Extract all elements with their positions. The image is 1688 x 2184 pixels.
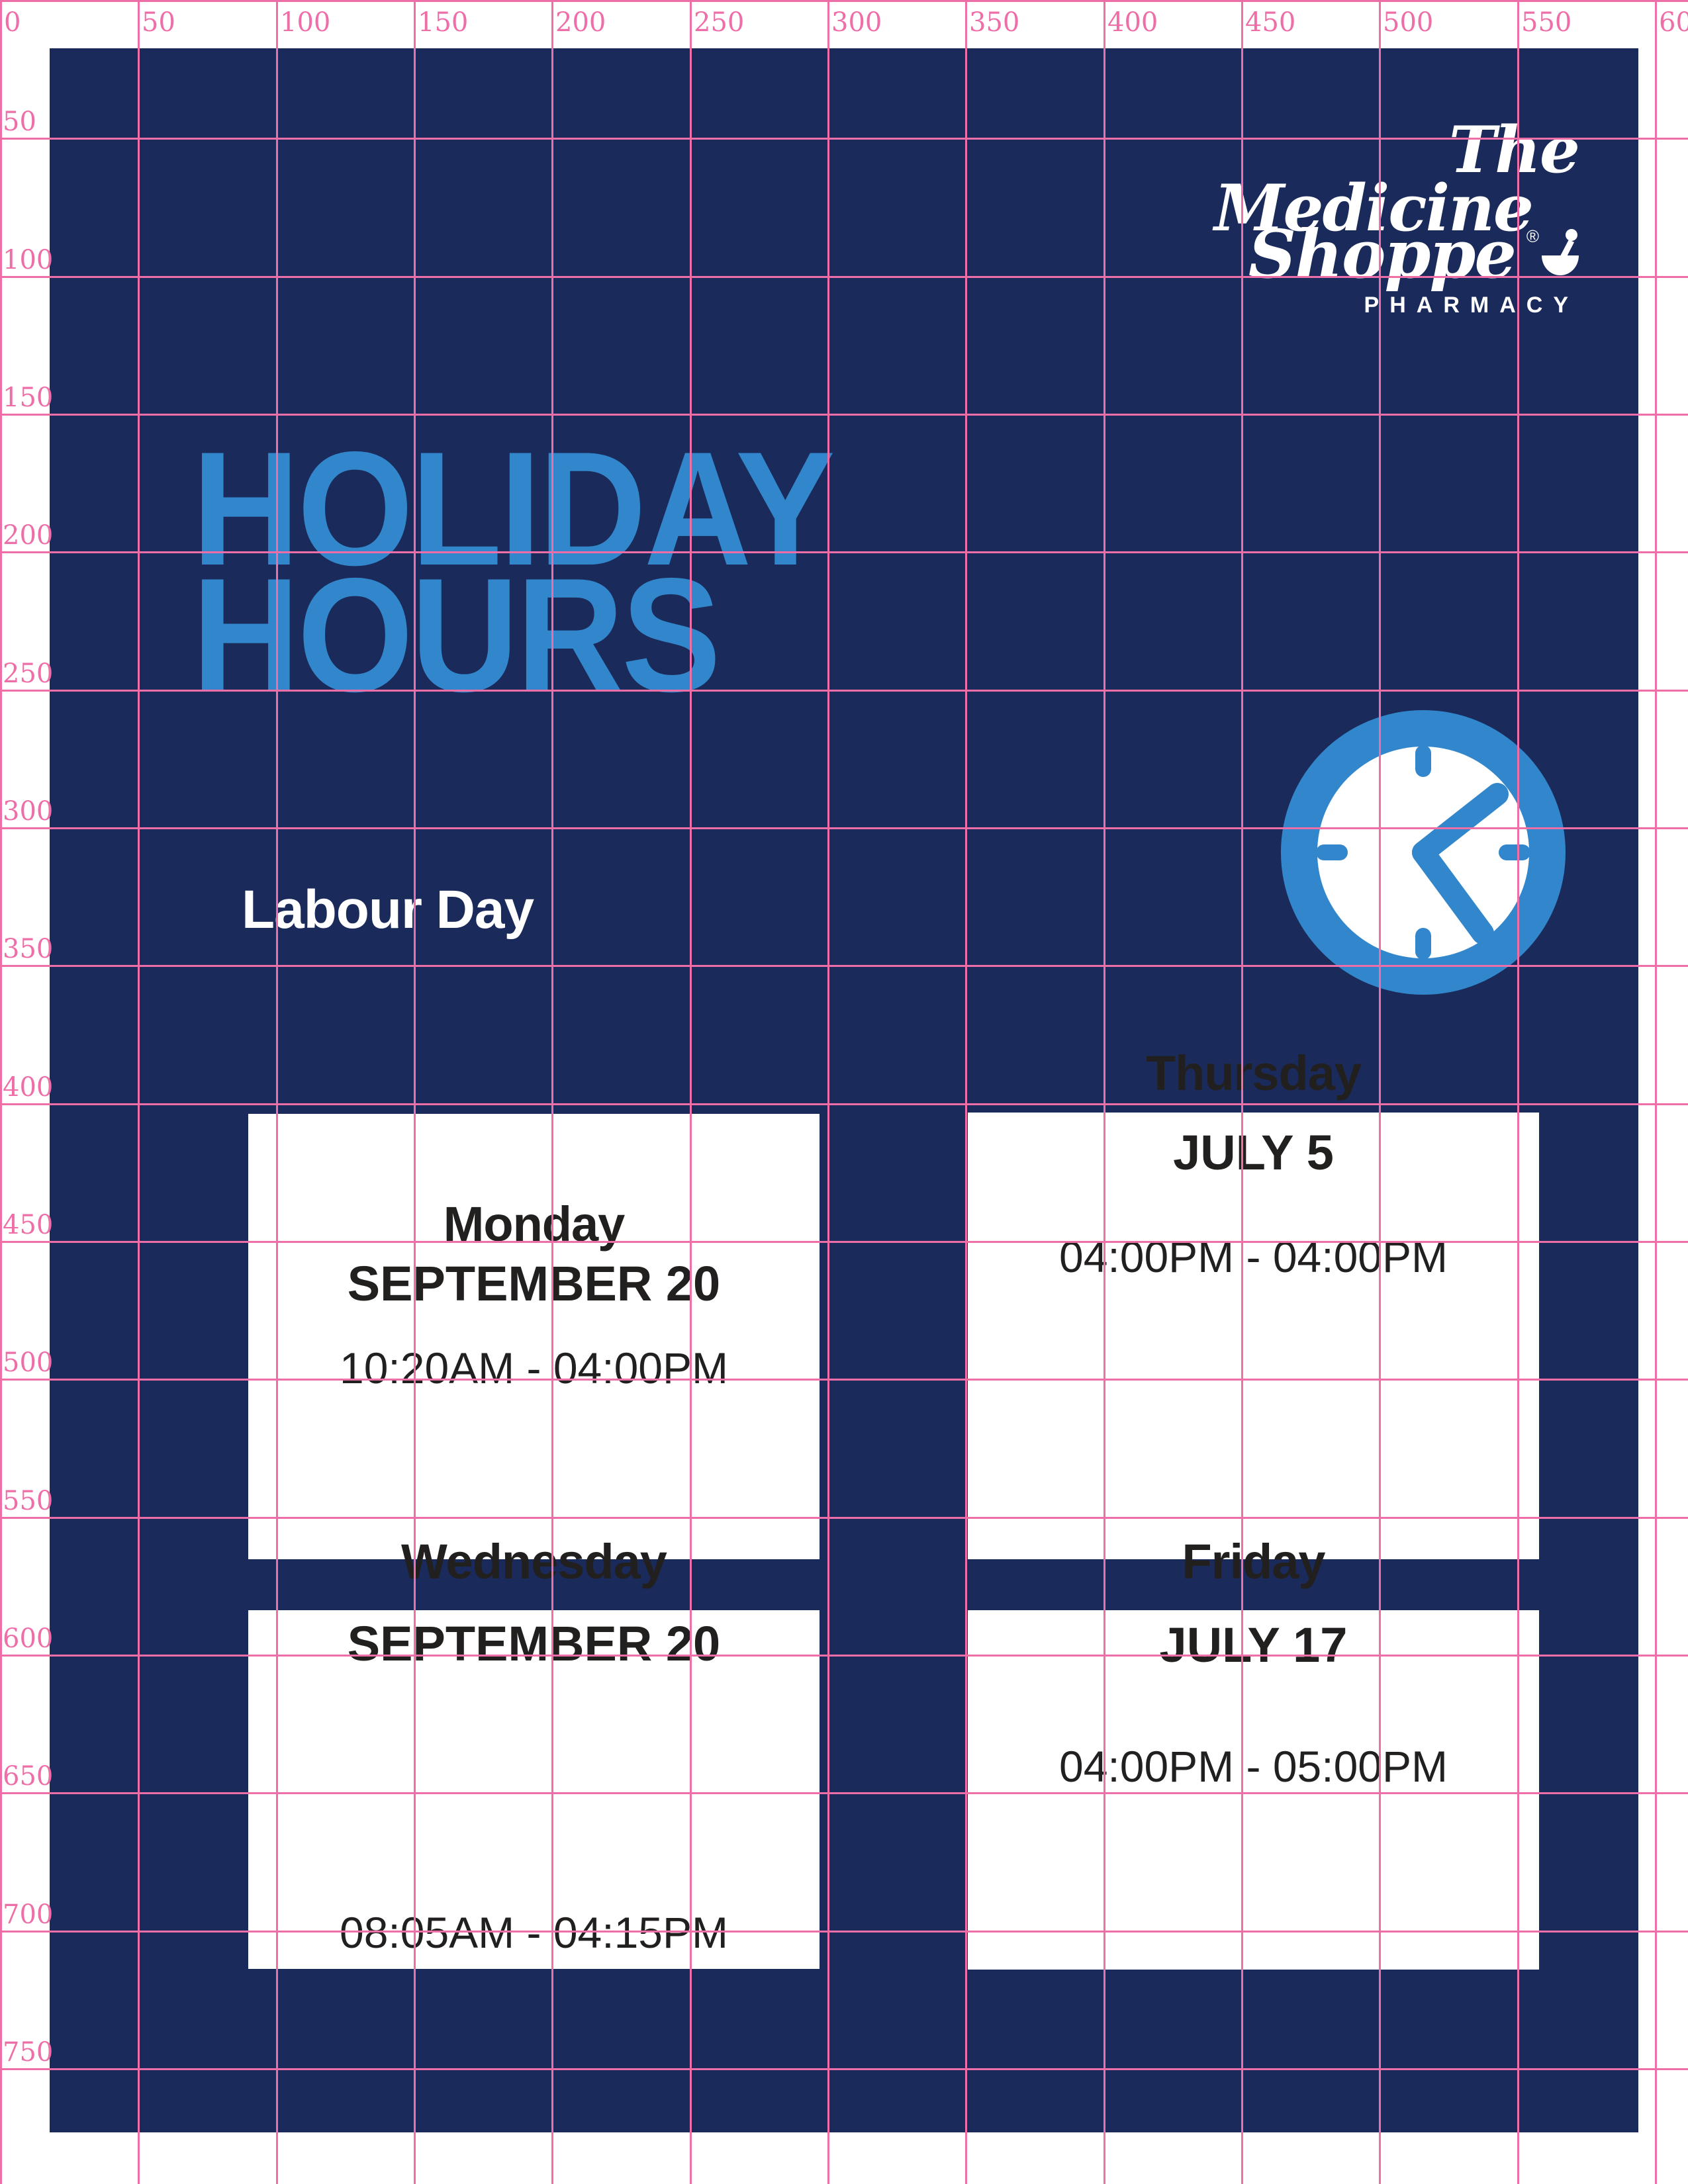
card-date: SEPTEMBER 20: [348, 1258, 720, 1310]
grid-tick-label-x: 50: [138, 9, 175, 36]
grid-tick-label-y: 700: [3, 1901, 53, 1928]
grid-tick-label-y: 650: [3, 1763, 53, 1790]
grid-tick-label-y: 100: [3, 247, 53, 273]
grid-tick-label-x: 150: [414, 9, 468, 36]
grid-tick-label-y: 550: [3, 1488, 53, 1514]
card-time: 10:20AM - 04:00PM: [340, 1344, 728, 1392]
card-day: Friday: [968, 1537, 1539, 1586]
grid-line-horizontal: [0, 0, 1688, 2]
grid-tick-label-x: 300: [827, 9, 882, 36]
hours-card[interactable]: Friday JULY 17 04:00PM - 05:00PM: [968, 1610, 1539, 1970]
hours-card[interactable]: Thursday JULY 5 04:00PM - 04:00PM: [968, 1113, 1539, 1559]
card-time: 08:05AM - 04:15PM: [248, 1909, 820, 1957]
grid-tick-label-y: 500: [3, 1349, 53, 1376]
grid-tick-label-y: 350: [3, 936, 53, 962]
grid-tick-label-y: 250: [3, 660, 53, 687]
logo-tagline: PHARMACY: [1142, 293, 1579, 318]
page-title: HOLIDAY HOURS: [192, 445, 833, 698]
grid-tick-label-x: 400: [1103, 9, 1158, 36]
logo-shoppe: Shoppe: [1248, 215, 1515, 293]
grid-tick-label-y: 600: [3, 1625, 53, 1652]
grid-tick-label-x: 250: [690, 9, 744, 36]
registered-trademark-icon: ®: [1526, 229, 1538, 245]
clock-icon: [1264, 694, 1582, 1011]
grid-line-vertical: [1655, 0, 1657, 2184]
grid-tick-label-x: 600: [1655, 9, 1688, 36]
card-date: JULY 5: [1173, 1127, 1334, 1179]
brand-logo: The Medicine Shoppe ® PHARMACY: [1142, 121, 1579, 318]
grid-tick-label-x: 200: [551, 9, 606, 36]
card-time: 04:00PM - 04:00PM: [1059, 1233, 1448, 1281]
grid-tick-label-y: 50: [3, 109, 36, 135]
holiday-name: Labour Day: [242, 879, 534, 941]
grid-line-vertical: [0, 0, 2, 2184]
card-date: SEPTEMBER 20: [348, 1618, 720, 1670]
grid-tick-label-x: 500: [1379, 9, 1433, 36]
grid-tick-label-y: 300: [3, 798, 53, 825]
hours-card[interactable]: Wednesday SEPTEMBER 20 08:05AM - 04:15PM: [248, 1610, 820, 1969]
grid-tick-label-x: 0: [0, 9, 21, 36]
grid-tick-label-x: 550: [1517, 9, 1571, 36]
hours-card[interactable]: Monday SEPTEMBER 20 10:20AM - 04:00PM: [248, 1114, 820, 1559]
card-day: Wednesday: [248, 1537, 820, 1586]
card-date: JULY 17: [1160, 1619, 1348, 1671]
poster-canvas: The Medicine Shoppe ® PHARMACY HOLIDAY H…: [50, 48, 1638, 2132]
logo-shoppe-row: Shoppe ®: [1142, 224, 1579, 285]
grid-tick-label-x: 450: [1241, 9, 1295, 36]
card-day: Monday: [444, 1200, 625, 1249]
card-time: 04:00PM - 05:00PM: [1059, 1743, 1448, 1791]
grid-tick-label-y: 450: [3, 1212, 53, 1238]
grid-tick-label-y: 750: [3, 2039, 53, 2066]
grid-tick-label-y: 400: [3, 1074, 53, 1101]
grid-tick-label-x: 350: [965, 9, 1019, 36]
card-day: Thursday: [968, 1049, 1539, 1098]
mortar-and-pestle-icon: [1539, 229, 1581, 281]
grid-tick-label-y: 200: [3, 522, 53, 549]
grid-tick-label-y: 150: [3, 385, 53, 411]
grid-tick-label-x: 100: [276, 9, 330, 36]
